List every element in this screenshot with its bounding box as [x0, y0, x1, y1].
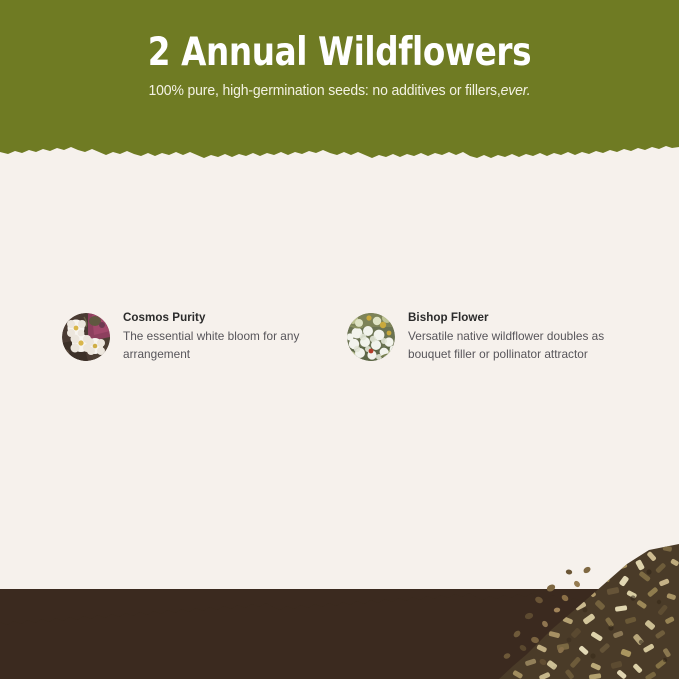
- cosmos-purity-photo: [62, 313, 110, 361]
- subtitle-emphasis-text: ever.: [501, 83, 531, 99]
- flower-info: Cosmos Purity The essential white bloom …: [123, 305, 335, 363]
- page-title: 2 Annual Wildflowers: [24, 31, 655, 75]
- footer-band: [0, 589, 679, 679]
- content-area: [0, 150, 679, 620]
- list-item[interactable]: Bishop Flower Versatile native wildflowe…: [347, 305, 627, 363]
- header-banner: 2 Annual Wildflowers 100% pure, high-ger…: [0, 0, 679, 160]
- flower-description: Versatile native wildflower doubles as b…: [408, 327, 620, 364]
- flower-info: Bishop Flower Versatile native wildflowe…: [408, 305, 620, 363]
- flower-thumbnail: [62, 313, 110, 361]
- page-subtitle: 100% pure, high-germination seeds: no ad…: [14, 83, 666, 99]
- header-content: 2 Annual Wildflowers 100% pure, high-ger…: [0, 0, 679, 99]
- flower-description: The essential white bloom for any arrang…: [123, 327, 335, 364]
- subtitle-main-text: 100% pure, high-germination seeds: no ad…: [149, 83, 501, 99]
- flower-name: Cosmos Purity: [123, 310, 335, 327]
- bishop-flower-photo: [347, 313, 395, 361]
- flower-thumbnail: [347, 313, 395, 361]
- flower-name: Bishop Flower: [408, 310, 620, 327]
- list-item[interactable]: Cosmos Purity The essential white bloom …: [62, 305, 342, 363]
